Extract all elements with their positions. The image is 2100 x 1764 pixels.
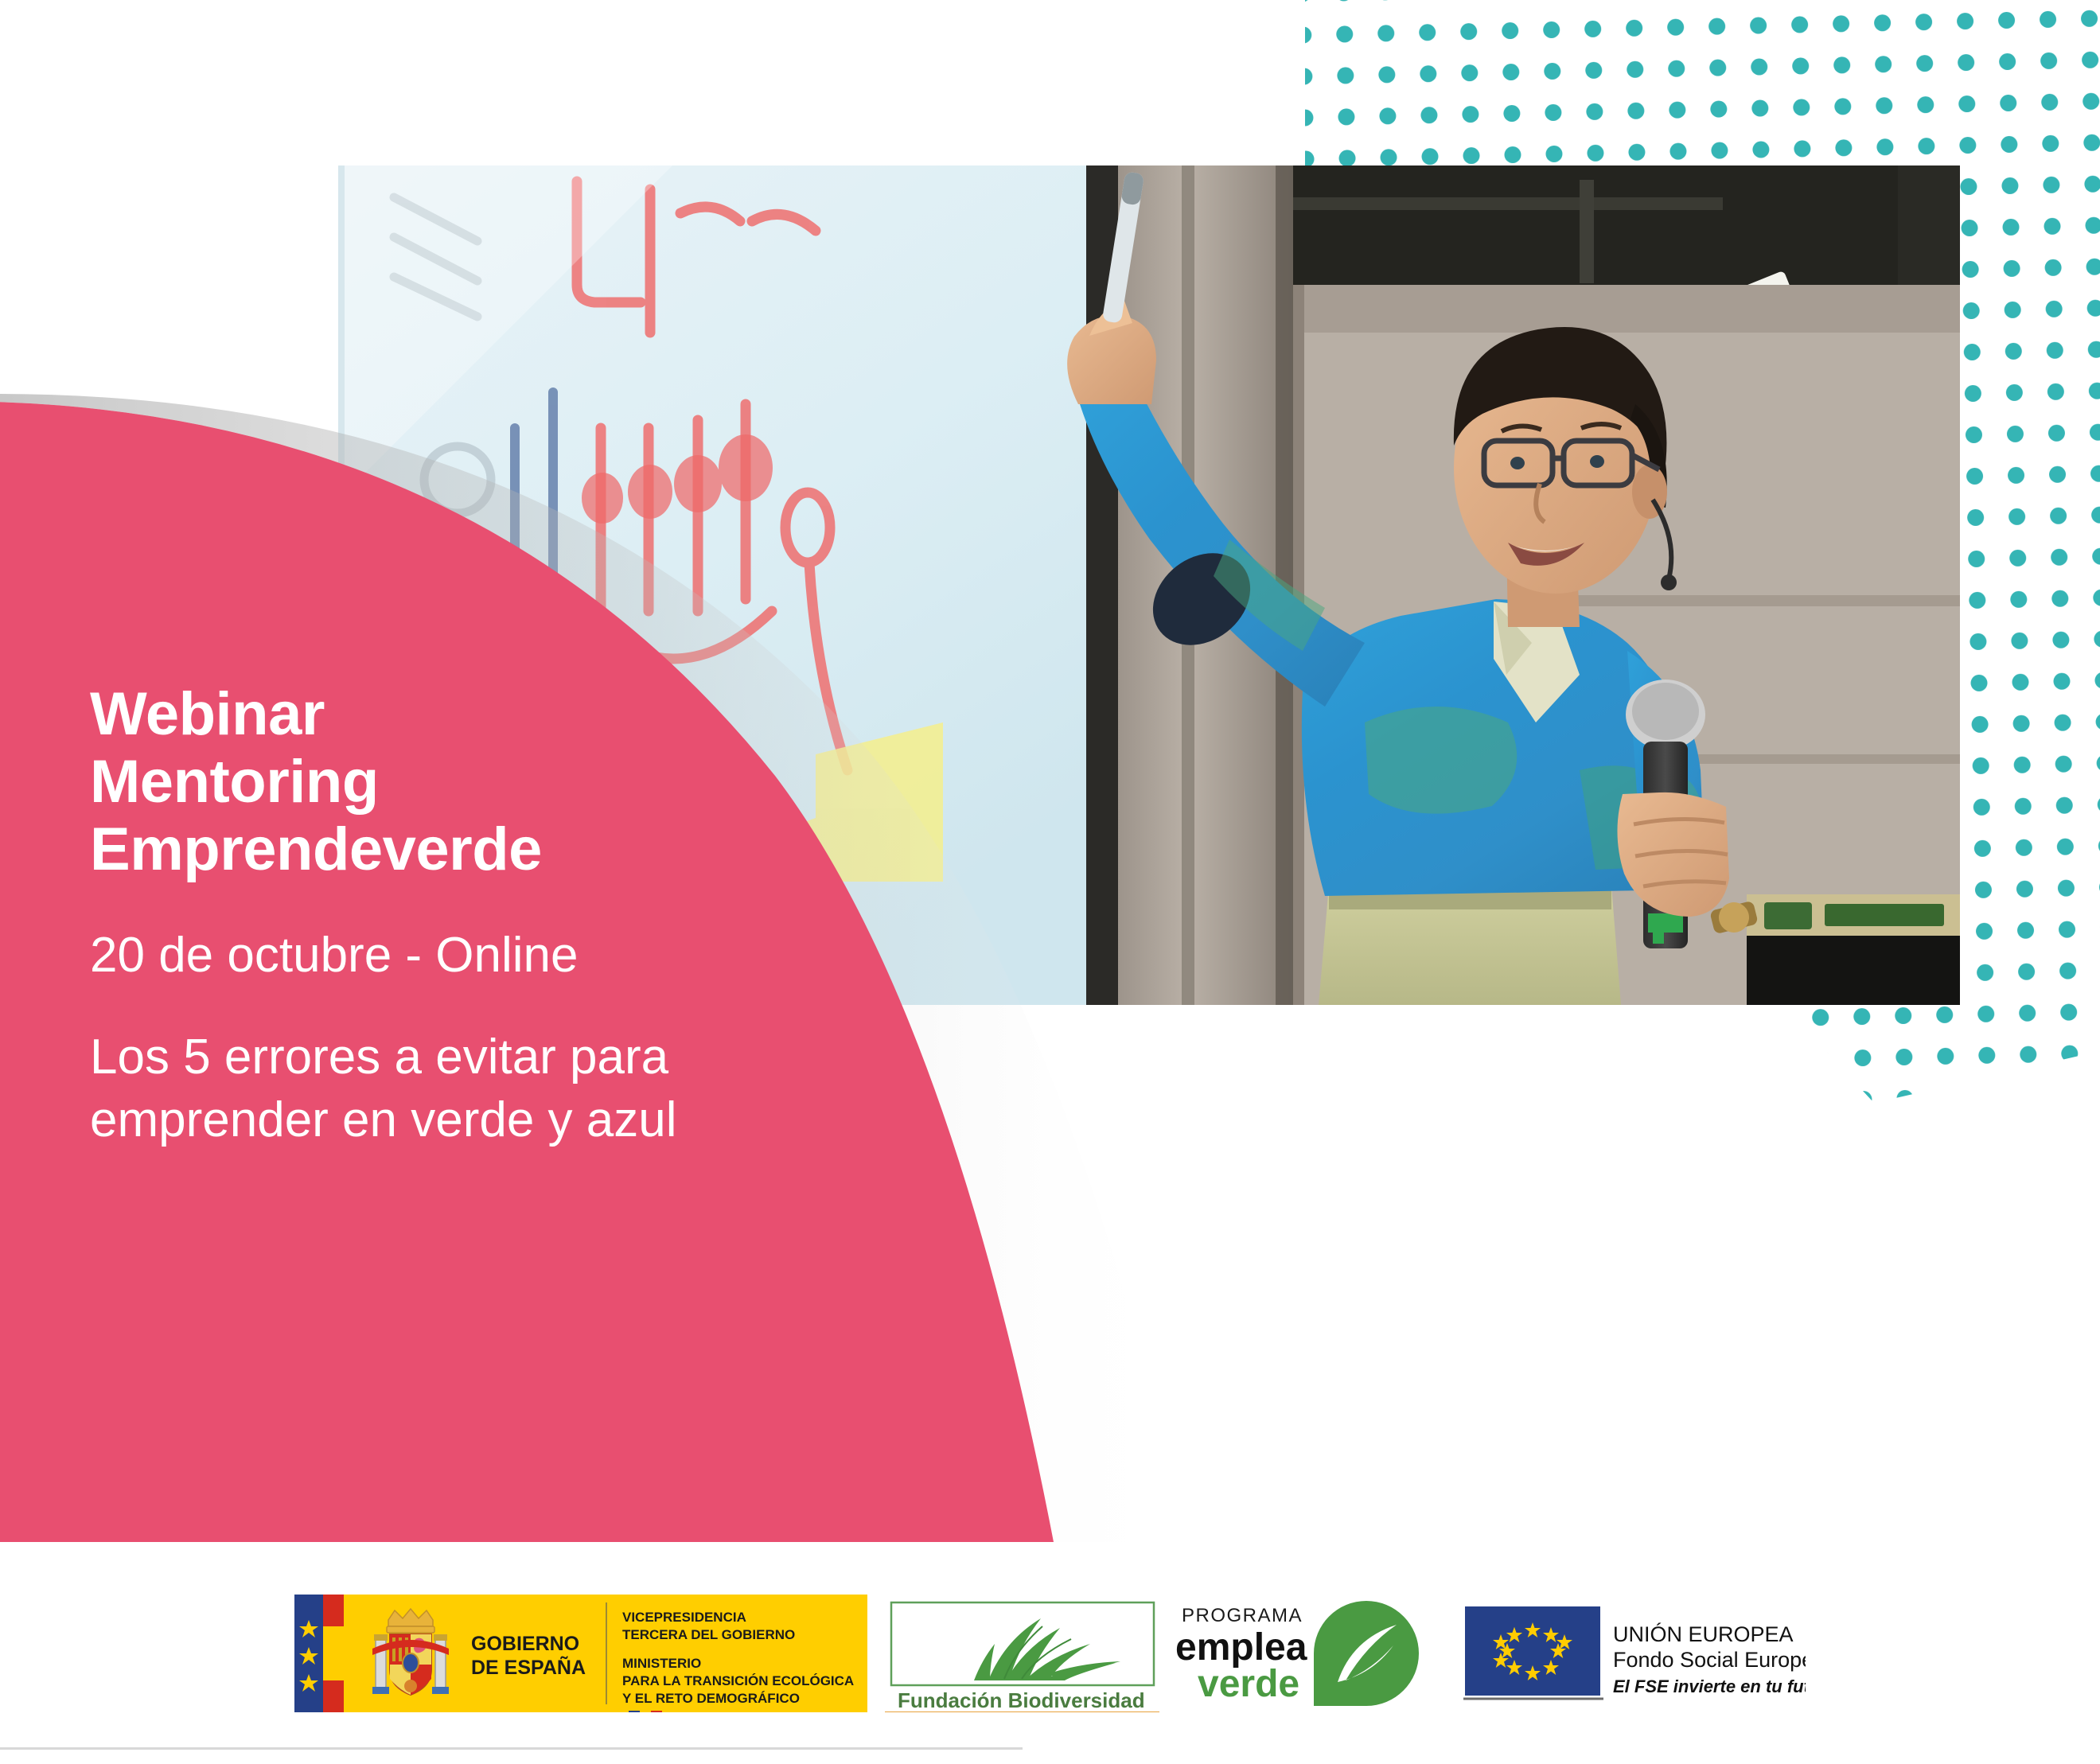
- gobierno-label-2: DE ESPAÑA: [471, 1655, 586, 1679]
- gobierno-label-1: GOBIERNO: [471, 1633, 579, 1655]
- programa-emplea-verde-logo: PROGRAMA emplea verde: [1174, 1595, 1420, 1712]
- emplea-line3: verde: [1198, 1663, 1299, 1705]
- ue-line1: UNIÓN EUROPEA: [1613, 1622, 1794, 1646]
- fundacion-biodiversidad-logo: Fundación Biodiversidad: [885, 1595, 1159, 1712]
- event-subject: Los 5 errores a evitar para emprender en…: [90, 1026, 933, 1152]
- event-date: 20 de octubre - Online: [90, 926, 933, 985]
- svg-text:Y EL RETO DEMOGRÁFICO: Y EL RETO DEMOGRÁFICO: [622, 1691, 800, 1706]
- union-europea-logo: UNIÓN EUROPEA Fondo Social Europeo El FS…: [1463, 1602, 1806, 1705]
- svg-text:PARA LA TRANSICIÓN ECOLÓGICA: PARA LA TRANSICIÓN ECOLÓGICA: [622, 1673, 854, 1688]
- svg-text:MINISTERIO: MINISTERIO: [622, 1656, 701, 1671]
- page-title: Webinar Mentoring Emprendeverde: [90, 680, 933, 883]
- fundacion-biodiversidad-caption: Fundación Biodiversidad: [898, 1688, 1145, 1712]
- ue-line2: Fondo Social Europeo: [1613, 1648, 1806, 1672]
- promo-text-block: Webinar Mentoring Emprendeverde 20 de oc…: [90, 680, 933, 1151]
- svg-text:TERCERA DEL GOBIERNO: TERCERA DEL GOBIERNO: [622, 1627, 795, 1642]
- ue-line3: El FSE invierte en tu futuro: [1613, 1676, 1806, 1696]
- svg-text:VICEPRESIDENCIA: VICEPRESIDENCIA: [622, 1610, 746, 1625]
- footer-divider: [0, 1747, 1023, 1750]
- emplea-line1: PROGRAMA: [1182, 1605, 1303, 1626]
- gobierno-de-espana-logo: GOBIERNO DE ESPAÑA VICEPRESIDENCIA TERCE…: [294, 1595, 867, 1712]
- webinar-promo-graphic: { "brand": { "pink": "#E84F70", "teal": …: [0, 0, 2100, 1764]
- footer-logo-bar: GOBIERNO DE ESPAÑA VICEPRESIDENCIA TERCE…: [0, 1542, 2100, 1764]
